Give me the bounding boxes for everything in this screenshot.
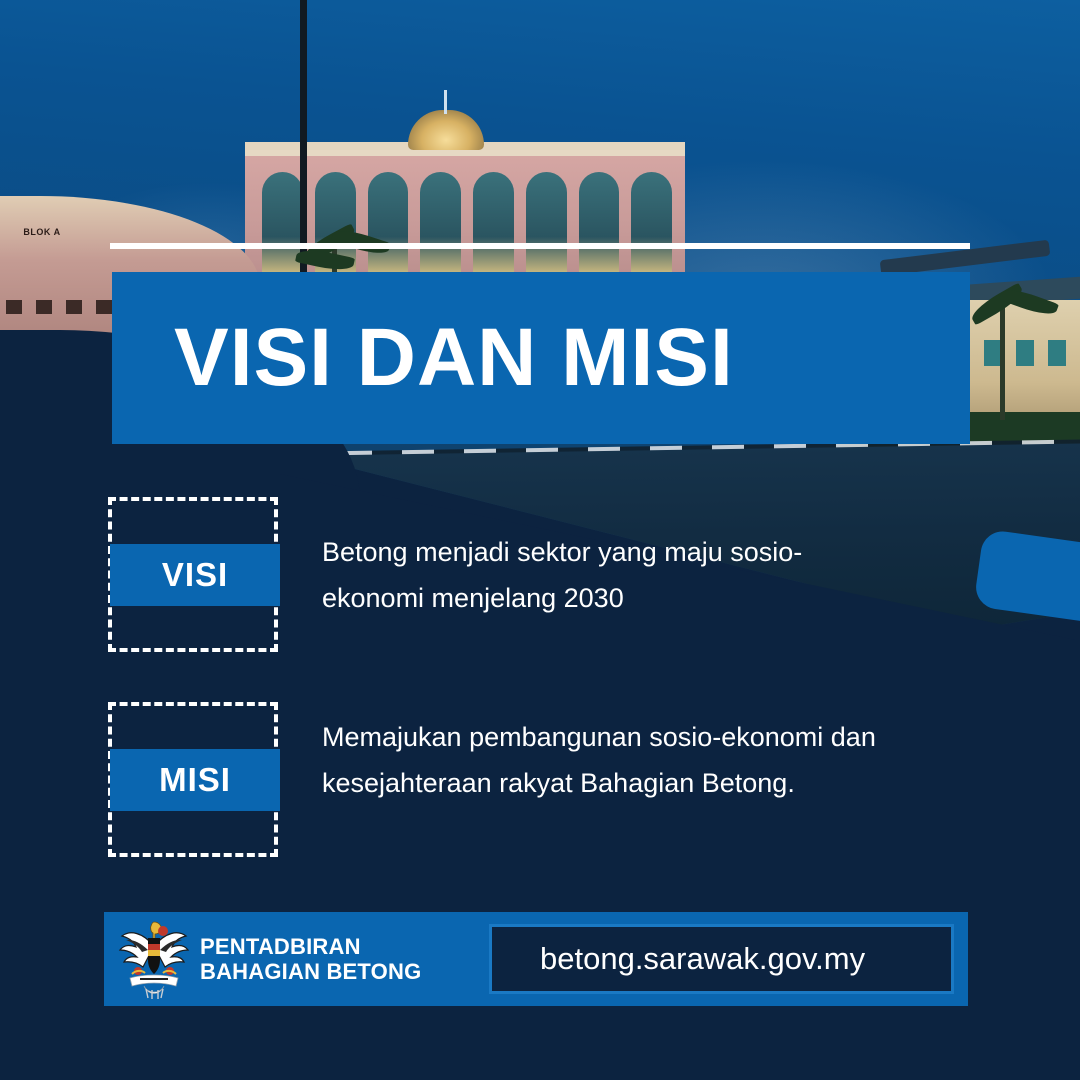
section-misi: MISI Memajukan pembangunan sosio-ekonomi… (108, 702, 882, 857)
visi-body-text: Betong menjadi sektor yang maju sosio-ek… (322, 497, 882, 622)
sarawak-coat-of-arms-icon (118, 916, 190, 1002)
website-url-text: betong.sarawak.gov.my (492, 941, 865, 977)
poster-canvas: BLOK A VIS (0, 0, 1080, 1080)
footer-brand: PENTADBIRAN BAHAGIAN BETONG (200, 934, 421, 984)
palm-trunk (1000, 300, 1005, 420)
title-rule (110, 243, 970, 249)
footer-brand-line-2: BAHAGIAN BETONG (200, 959, 421, 984)
visi-tag-fill: VISI (110, 544, 280, 606)
block-a-sign: BLOK A (22, 228, 62, 238)
section-visi: VISI Betong menjadi sektor yang maju sos… (108, 497, 882, 652)
footer-bar: PENTADBIRAN BAHAGIAN BETONG betong.saraw… (104, 912, 968, 1006)
page-title: VISI DAN MISI (112, 317, 734, 399)
misi-tag-fill: MISI (110, 749, 280, 811)
website-url-box[interactable]: betong.sarawak.gov.my (489, 924, 954, 994)
visi-tag-label: VISI (162, 556, 228, 594)
misi-body-text: Memajukan pembangunan sosio-ekonomi dan … (322, 702, 882, 807)
title-banner: VISI DAN MISI (112, 272, 970, 444)
dome-spire (444, 90, 447, 114)
misi-tag: MISI (108, 702, 278, 857)
visi-tag: VISI (108, 497, 278, 652)
footer-brand-line-1: PENTADBIRAN (200, 934, 421, 959)
right-building-windows (952, 340, 1080, 366)
misi-tag-label: MISI (159, 761, 231, 799)
